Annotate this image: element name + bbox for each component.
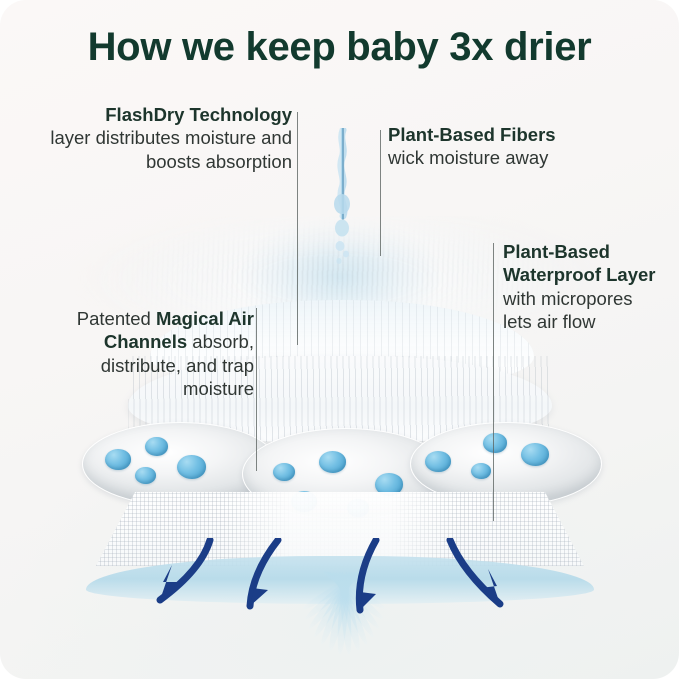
- moisture-droplet: [105, 449, 131, 470]
- moisture-droplet: [483, 433, 507, 453]
- callout-plant-based-waterproof-layer: Plant-Based Waterproof Layer with microp…: [503, 240, 663, 333]
- callout-magical-air-channels: Patented Magical Air Channels absorb, di…: [56, 307, 254, 400]
- callout-channels-lead: Patented: [77, 308, 156, 329]
- water-droplet-stream: [316, 128, 372, 278]
- connector-channels: [256, 308, 257, 471]
- infographic-canvas: How we keep baby 3x drier: [0, 0, 679, 679]
- callout-waterproof-body: with micropores lets air flow: [503, 288, 633, 332]
- moisture-droplet: [319, 451, 346, 473]
- callout-plant-based-fibers: Plant-Based Fibers wick moisture away: [388, 123, 638, 170]
- moisture-droplet: [145, 437, 168, 456]
- airflow-arrow-group: [150, 538, 530, 634]
- moisture-droplet: [273, 463, 295, 481]
- connector-fibers: [380, 130, 381, 256]
- moisture-droplet: [425, 451, 451, 472]
- callout-flashdry-technology: FlashDry Technology layer distributes mo…: [24, 103, 292, 173]
- moisture-droplet: [471, 463, 491, 479]
- connector-flashdry: [297, 112, 298, 345]
- callout-flashdry-heading: FlashDry Technology: [24, 103, 292, 126]
- callout-flashdry-body: layer distributes moisture and boosts ab…: [50, 127, 292, 171]
- callout-waterproof-heading: Plant-Based Waterproof Layer: [503, 241, 655, 285]
- connector-waterproof: [493, 243, 494, 521]
- moisture-droplet: [177, 455, 206, 479]
- moisture-droplet: [135, 467, 156, 484]
- moisture-droplet: [521, 443, 549, 466]
- callout-fibers-heading: Plant-Based Fibers: [388, 123, 638, 146]
- callout-fibers-body: wick moisture away: [388, 147, 548, 168]
